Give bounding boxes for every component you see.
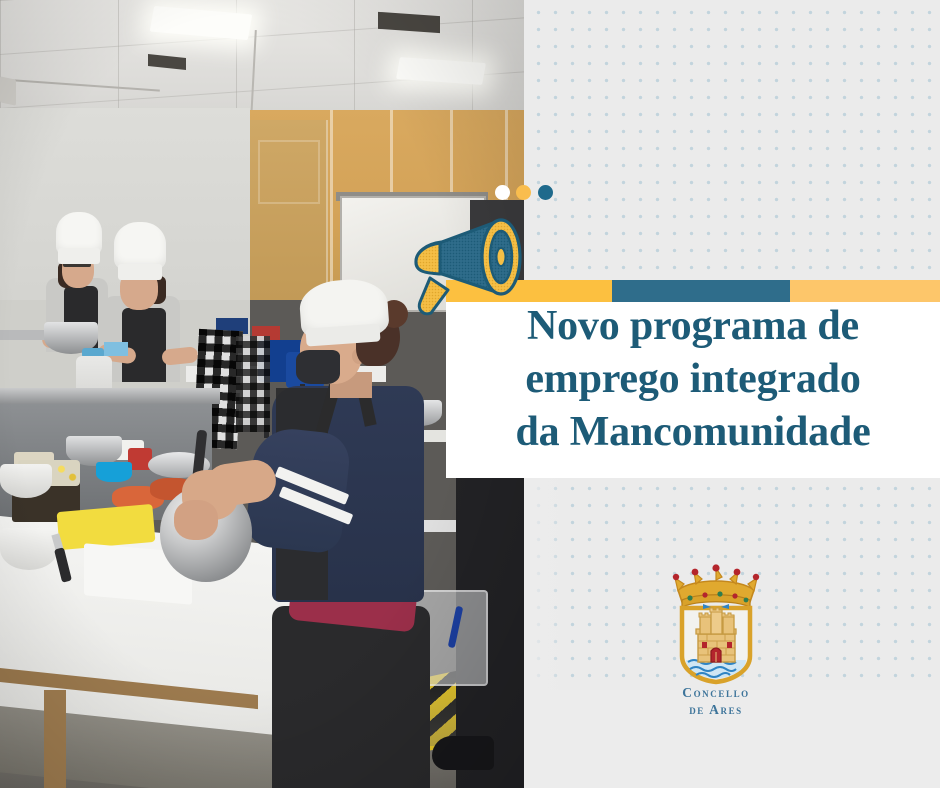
decor-dot-teal xyxy=(538,185,553,200)
page-title: Novo programa de emprego integrado da Ma… xyxy=(460,300,926,459)
crest-label-line-1: Concello xyxy=(606,684,826,701)
title-line-3: da Mancomunidade xyxy=(460,406,926,459)
megaphone-icon xyxy=(404,216,532,320)
bar-yellow-right xyxy=(790,280,940,302)
decor-dot-white xyxy=(495,185,510,200)
crest-label-line-2: de Ares xyxy=(606,701,826,718)
decor-dot-yellow xyxy=(516,185,531,200)
poster-canvas: Novo programa de emprego integrado da Ma… xyxy=(0,0,940,788)
panel-left-fade xyxy=(524,478,570,690)
bar-teal-middle xyxy=(612,280,790,302)
title-card: Novo programa de emprego integrado da Ma… xyxy=(446,302,940,478)
title-line-2: emprego integrado xyxy=(460,353,926,406)
coat-of-arms-icon xyxy=(664,560,768,688)
crest-label: Concello de Ares xyxy=(606,684,826,718)
